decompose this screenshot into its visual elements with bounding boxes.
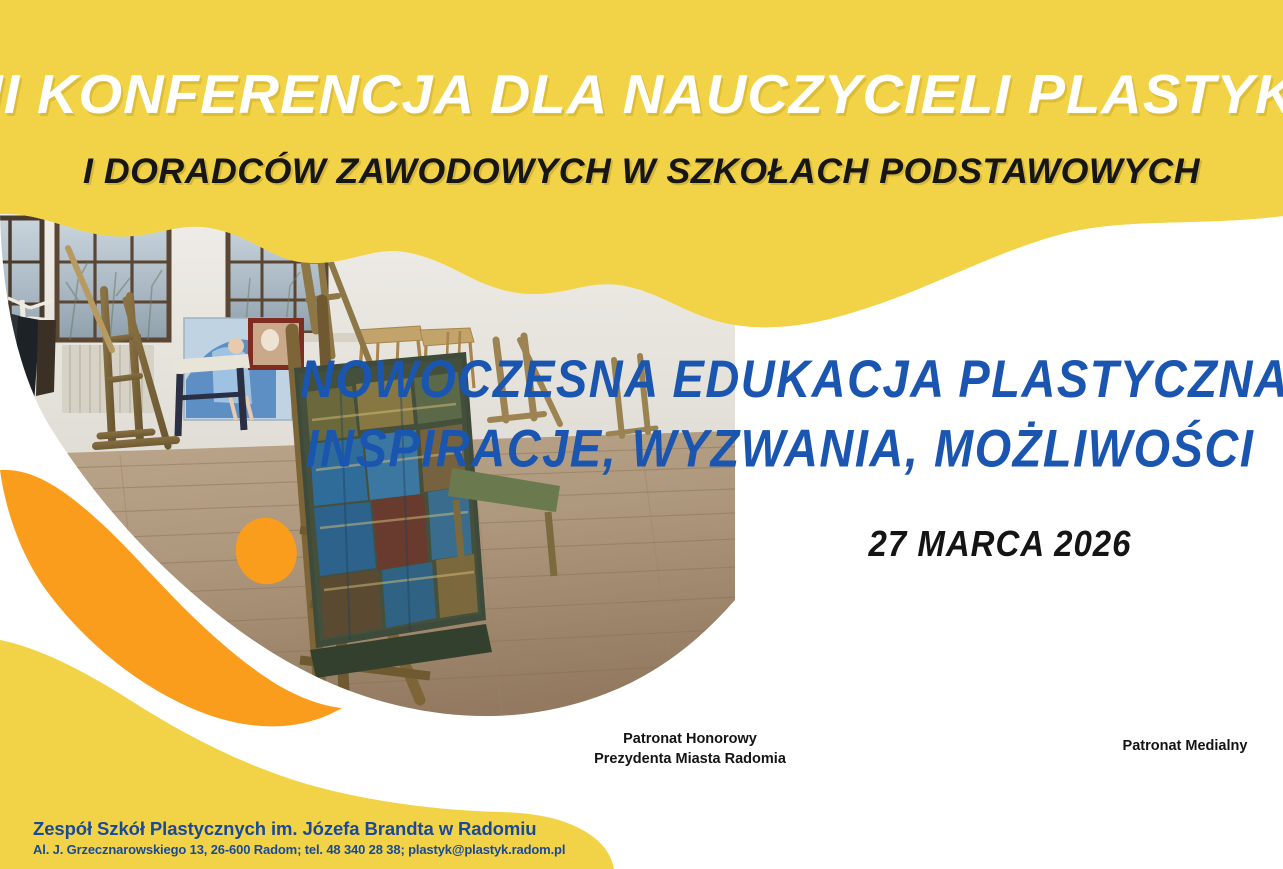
poster-header: II KONFERENCJA DLA NAUCZYCIELI PLASTYKI … — [0, 0, 1283, 215]
main-title-line1: NOWOCZESNA EDUKACJA PLASTYCZNA — [300, 345, 1260, 414]
event-date: 27 MARCA 2026 — [760, 523, 1240, 565]
school-name: Zespół Szkół Plastycznych im. Józefa Bra… — [33, 818, 565, 840]
main-title-line2: INSPIRACJE, WYZWANIA, MOŻLIWOŚCI — [300, 414, 1260, 483]
honorary-patronage-label: Patronat Honorowy Prezydenta Miasta Rado… — [540, 730, 840, 769]
header-title-line1: II KONFERENCJA DLA NAUCZYCIELI PLASTYKI — [0, 62, 1283, 126]
honorary-patronage-line1: Patronat Honorowy — [540, 730, 840, 750]
school-address: Al. J. Grzecznarowskiego 13, 26-600 Rado… — [33, 842, 565, 857]
conference-poster: II KONFERENCJA DLA NAUCZYCIELI PLASTYKI … — [0, 0, 1283, 869]
header-title-line2: I DORADCÓW ZAWODOWYCH W SZKOŁACH PODSTAW… — [0, 152, 1283, 192]
media-patronage-label: Patronat Medialny — [1065, 738, 1283, 754]
studio-window-main — [57, 222, 169, 340]
main-title: NOWOCZESNA EDUKACJA PLASTYCZNA INSPIRACJ… — [300, 345, 1260, 484]
honorary-patronage-line2: Prezydenta Miasta Radomia — [540, 750, 840, 770]
school-info: Zespół Szkół Plastycznych im. Józefa Bra… — [33, 818, 565, 857]
